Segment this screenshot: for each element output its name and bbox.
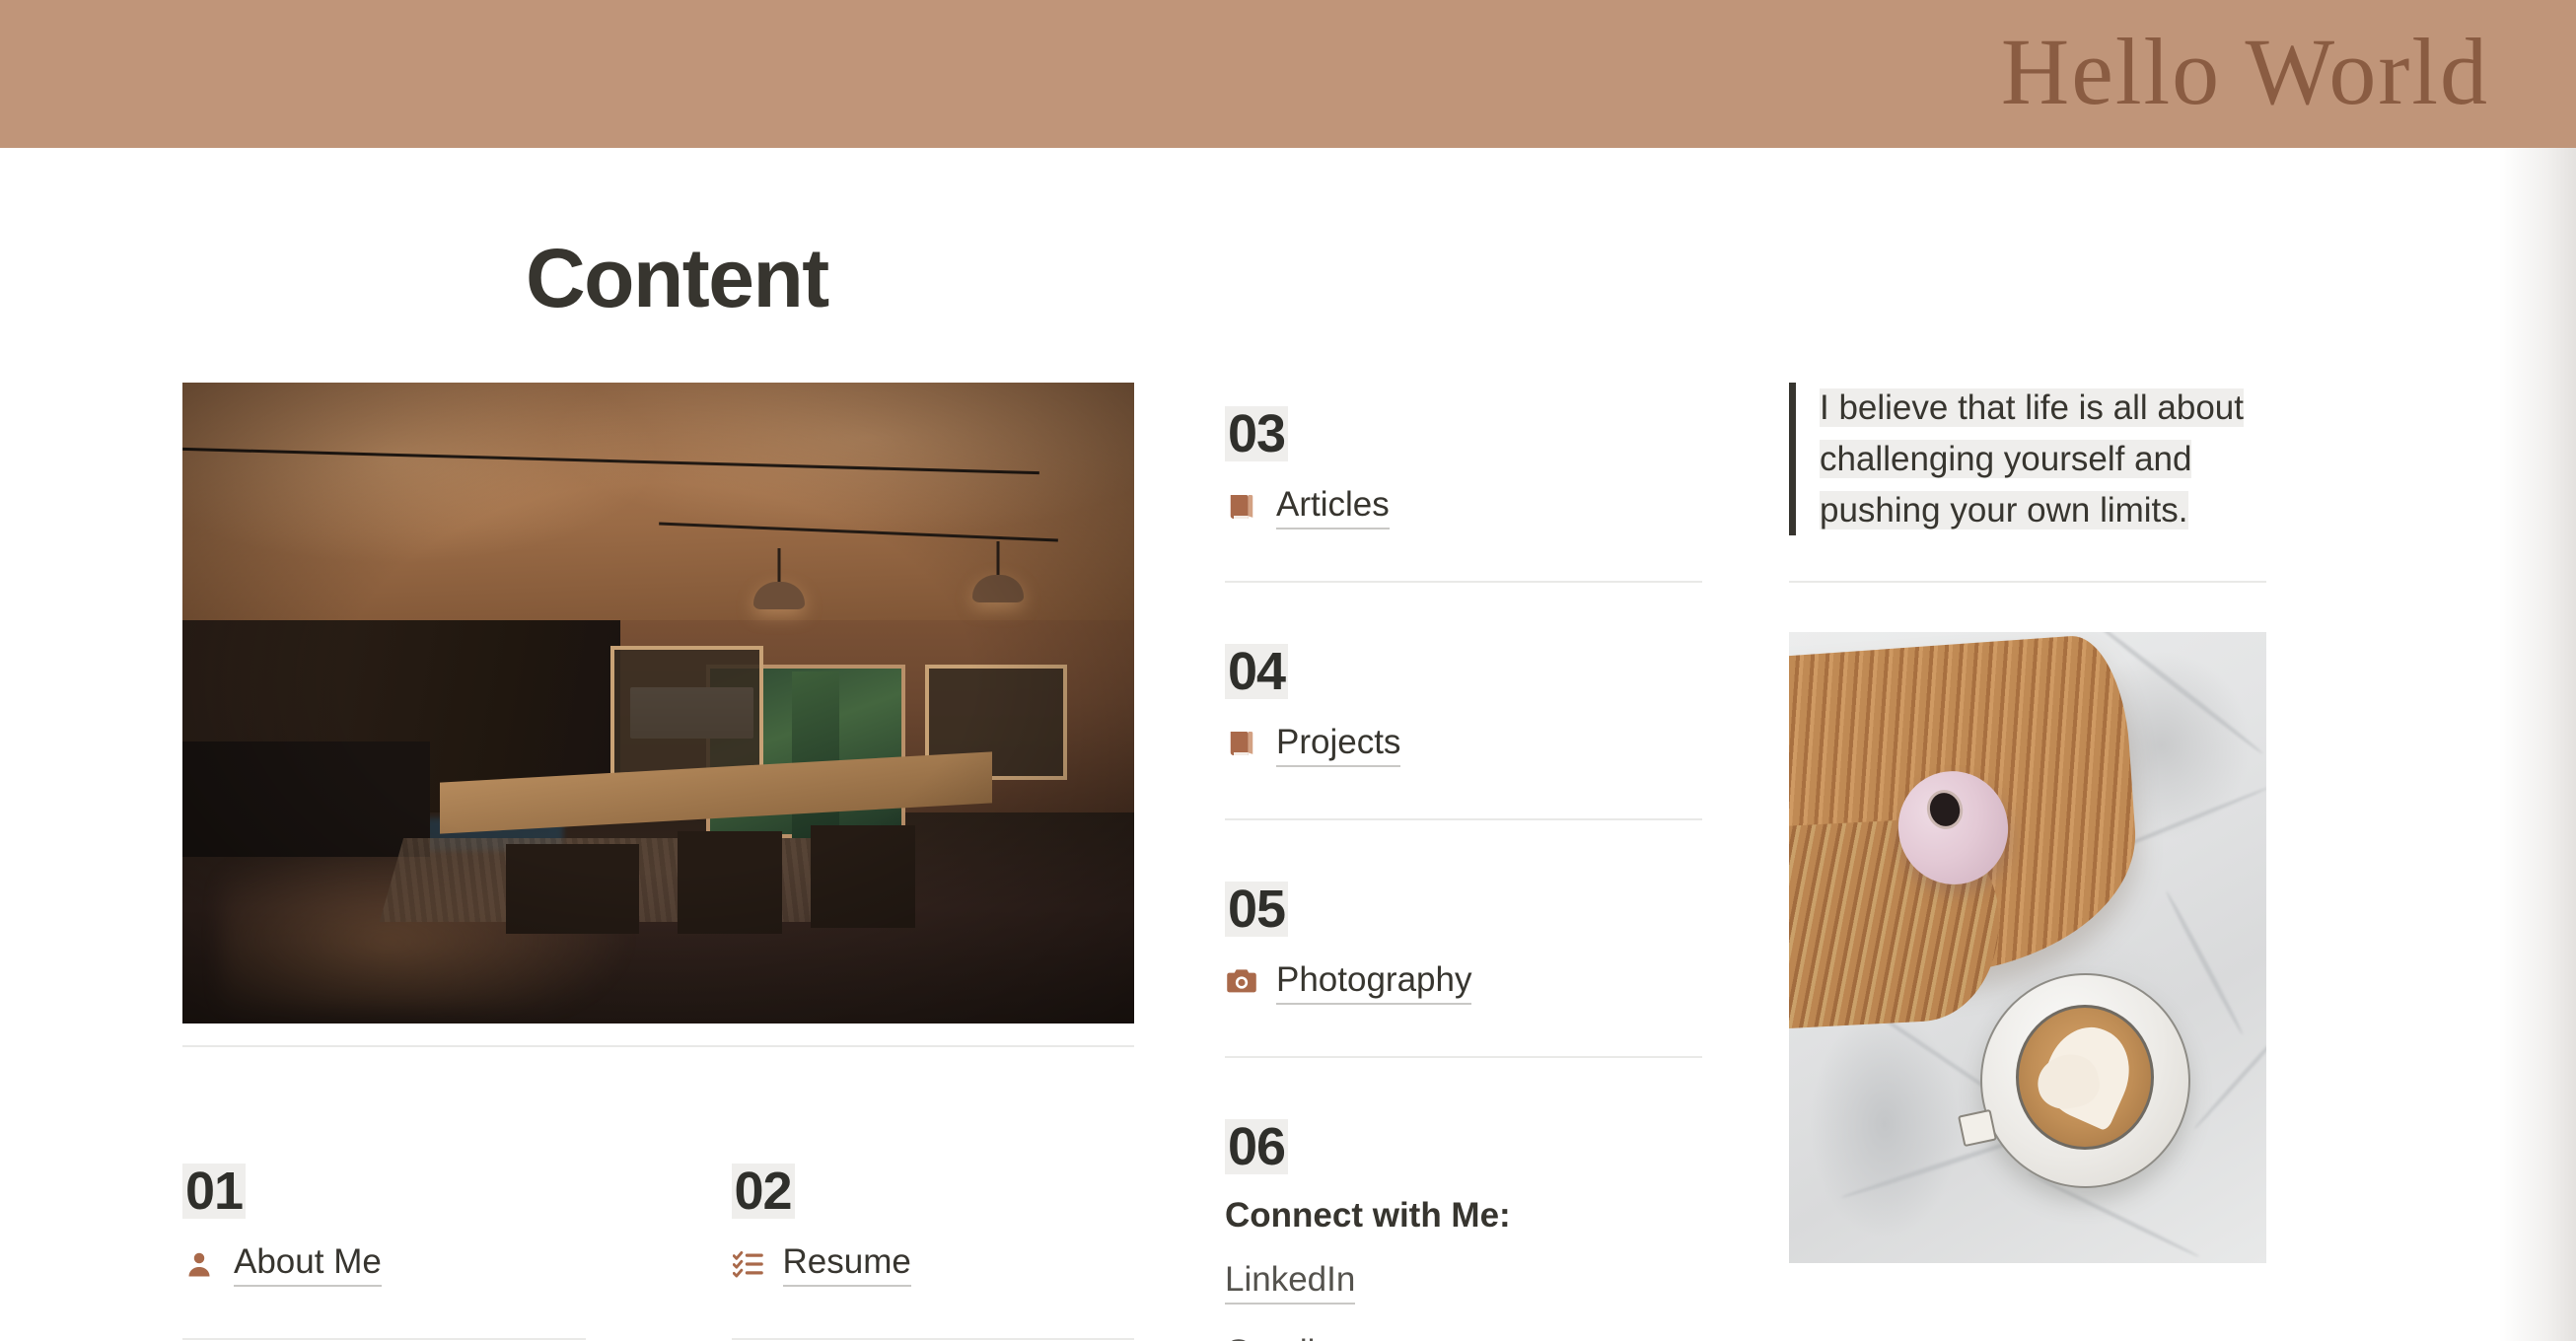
projects-link[interactable]: Projects (1225, 721, 1702, 767)
articles-label: Articles (1276, 483, 1390, 529)
list-item: 02 (732, 1164, 1135, 1340)
photography-label: Photography (1276, 958, 1471, 1005)
item-number: 06 (1225, 1119, 1288, 1174)
column-right: I believe that life is all about challen… (1789, 383, 2266, 1263)
item-number: 03 (1225, 406, 1288, 461)
page-cover-banner: Hello World (0, 0, 2576, 148)
checklist-icon (732, 1247, 765, 1281)
divider-below-articles (1225, 581, 1702, 583)
quote-block: I believe that life is all about challen… (1789, 383, 2266, 535)
divider-below-projects (1225, 818, 1702, 820)
person-icon (182, 1247, 216, 1281)
about-me-link[interactable]: About Me (182, 1240, 586, 1287)
quote-text: I believe that life is all about challen… (1820, 388, 2244, 529)
connect-section: 06 Connect with Me: LinkedIn Gmail (1225, 1119, 1702, 1341)
item-number: 05 (1225, 882, 1288, 937)
cabin-kitchen-image (182, 383, 1134, 1023)
resume-label: Resume (783, 1240, 911, 1287)
item-number: 02 (732, 1164, 795, 1219)
item-number: 04 (1225, 644, 1288, 699)
divider-below-photography (1225, 1056, 1702, 1058)
book-icon (1225, 727, 1258, 760)
page-body: Content (0, 148, 2576, 1341)
divider-below-quote (1789, 581, 2266, 583)
connect-heading: Connect with Me: (1225, 1196, 1702, 1235)
divider-below-cabin-image (182, 1045, 1134, 1047)
photography-link[interactable]: Photography (1225, 958, 1702, 1005)
column-left: 01 About Me (182, 383, 1134, 1340)
projects-label: Projects (1276, 721, 1400, 767)
item-number: 01 (182, 1164, 246, 1219)
divider-below-resume (732, 1338, 1135, 1340)
gmail-link[interactable]: Gmail (1225, 1330, 1315, 1341)
book-icon (1225, 490, 1258, 524)
articles-link[interactable]: Articles (1225, 483, 1702, 529)
quote-text-wrapper: I believe that life is all about challen… (1820, 383, 2266, 535)
page-root: Hello World Content (0, 0, 2576, 1341)
list-item: 05 Photography (1225, 882, 1702, 1058)
column-middle: 03 Articles (1225, 383, 1702, 1341)
divider-below-about-me (182, 1338, 586, 1340)
resume-link[interactable]: Resume (732, 1240, 1135, 1287)
camera-icon (1225, 964, 1258, 998)
page-title: Content (526, 237, 828, 319)
list-item: 04 Projects (1225, 644, 1702, 820)
list-item: 03 Articles (1225, 406, 1702, 583)
page-cover-title: Hello World (2001, 25, 2489, 119)
about-me-label: About Me (234, 1240, 382, 1287)
linkedin-link[interactable]: LinkedIn (1225, 1257, 1355, 1306)
left-column-item-grid: 01 About Me (182, 1164, 1134, 1340)
list-item: 01 About Me (182, 1164, 586, 1340)
latte-on-marble-image (1789, 632, 2266, 1263)
